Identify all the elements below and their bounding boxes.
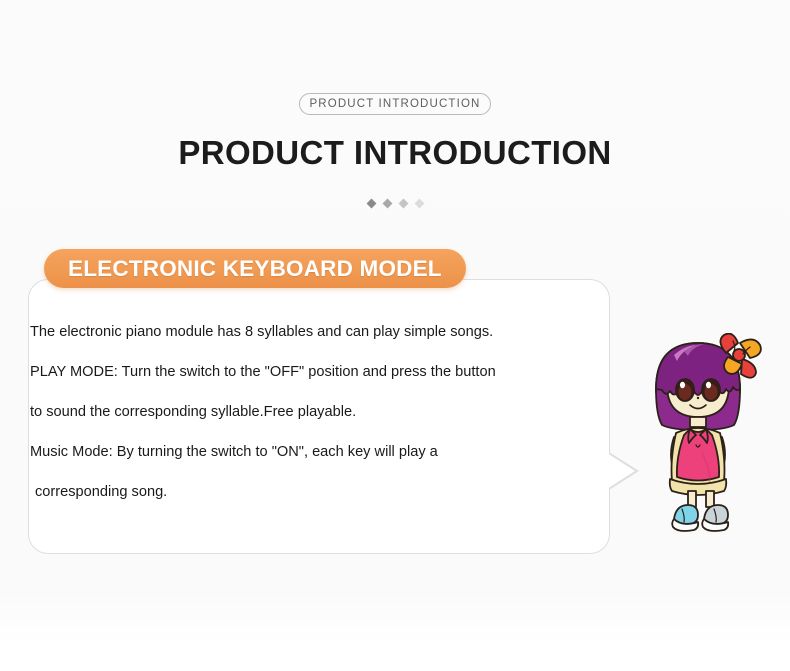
body-line-3: to sound the corresponding syllable.Free… <box>30 392 595 432</box>
diamond-divider <box>0 200 790 207</box>
speech-bubble-tail <box>607 453 635 489</box>
section-body-text: The electronic piano module has 8 syllab… <box>30 312 595 512</box>
eyebrow-badge: PRODUCT INTRODUCTION <box>299 93 491 115</box>
section-title-pill: ELECTRONIC KEYBOARD MODEL <box>44 249 466 288</box>
diamond-1-icon <box>366 199 376 209</box>
cartoon-girl-illustration <box>640 333 772 538</box>
page-title: PRODUCT INTRODUCTION <box>0 134 790 172</box>
body-line-1: The electronic piano module has 8 syllab… <box>30 312 595 352</box>
body-line-4: Music Mode: By turning the switch to "ON… <box>30 432 595 472</box>
eyebrow-badge-label: PRODUCT INTRODUCTION <box>309 98 480 110</box>
diamond-3-icon <box>398 199 408 209</box>
section-title-label: ELECTRONIC KEYBOARD MODEL <box>68 256 442 282</box>
body-line-5: corresponding song. <box>30 472 595 512</box>
diamond-4-icon <box>414 199 424 209</box>
body-line-2: PLAY MODE: Turn the switch to the "OFF" … <box>30 352 595 392</box>
product-introduction-page: PRODUCT INTRODUCTION PRODUCT INTRODUCTIO… <box>0 0 790 671</box>
diamond-2-icon <box>382 199 392 209</box>
